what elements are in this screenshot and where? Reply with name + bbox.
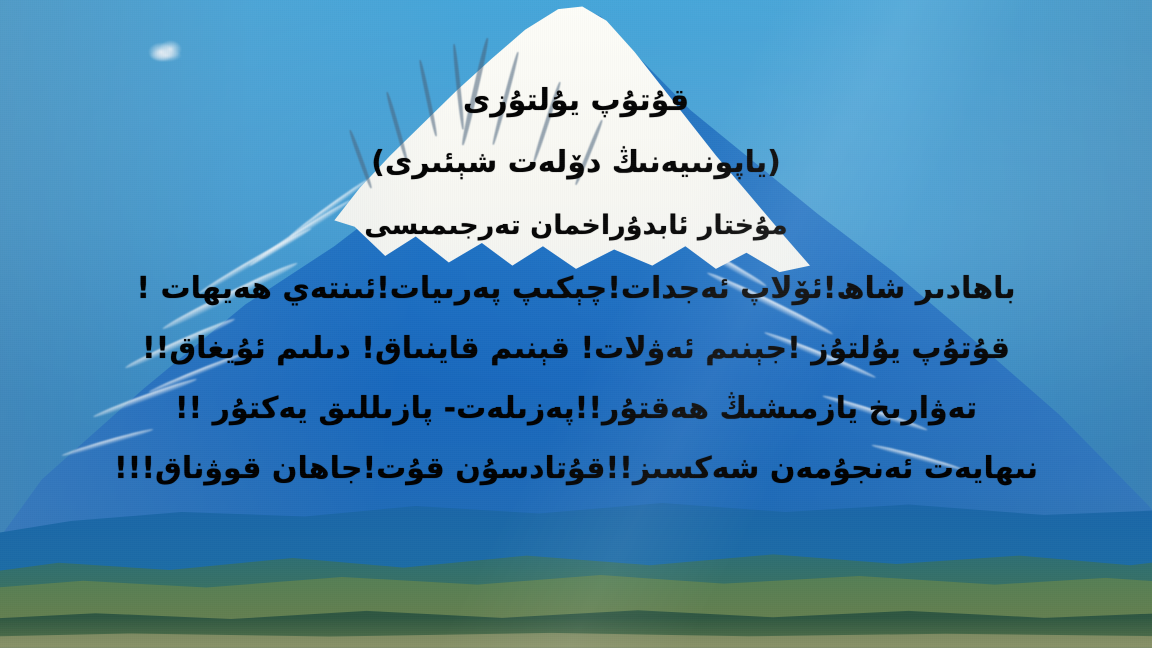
poem-subtitle: (ياپونىيەنىڭ دۆلەت شېئىرى): [371, 148, 781, 178]
poem-verse-line: نىھايەت ئەنجۇمەن شەكسىز!!قۇتادسۇن قۇت!جا…: [114, 454, 1038, 484]
poem-verse-line: باھادىر شاھ!ئۆلاپ ئەجدات!چېكىپ پەرىيات!ئ…: [136, 274, 1015, 304]
photo-canvas: قۇتۇپ يۇلتۇزى (ياپونىيەنىڭ دۆلەت شېئىرى)…: [0, 0, 1152, 648]
poem-verse-line: تەۋارىخ يازمىشىڭ ھەقتۇر!!پەزىلەت- پازىلل…: [175, 394, 977, 424]
poem-verse-line: قۇتۇپ يۇلتۇز !جېنىم ئەۋلات! قېنىم قاينىا…: [142, 334, 1010, 364]
poem-verses: باھادىر شاھ!ئۆلاپ ئەجدات!چېكىپ پەرىيات!ئ…: [0, 274, 1152, 484]
poem-title: قۇتۇپ يۇلتۇزى: [463, 86, 689, 116]
poem-author: مۇختار ئابدۇراخمان تەرجىمىسى: [364, 212, 787, 239]
poem-overlay: قۇتۇپ يۇلتۇزى (ياپونىيەنىڭ دۆلەت شېئىرى)…: [0, 0, 1152, 648]
